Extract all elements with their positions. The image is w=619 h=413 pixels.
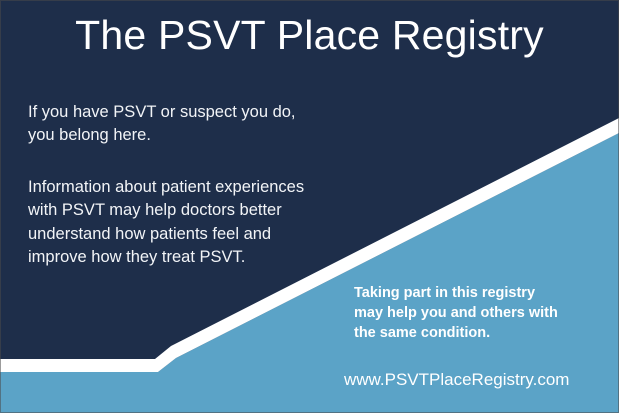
intro-paragraph: If you have PSVT or suspect you do, you …	[28, 101, 368, 148]
benefit-paragraph: Taking part in this registry may help yo…	[354, 283, 594, 343]
info-paragraph-line-2: with PSVT may help doctors better	[28, 199, 363, 222]
page-title: The PSVT Place Registry	[0, 12, 619, 59]
psvt-registry-poster: The PSVT Place Registry If you have PSVT…	[0, 0, 619, 413]
benefit-paragraph-line-2: may help you and others with	[354, 303, 594, 323]
benefit-paragraph-line-3: the same condition.	[354, 323, 594, 343]
info-paragraph-line-4: improve how they treat PSVT.	[28, 246, 363, 269]
poster-content: The PSVT Place Registry If you have PSVT…	[0, 0, 619, 413]
benefit-paragraph-line-1: Taking part in this registry	[354, 283, 594, 303]
intro-paragraph-line-1: If you have PSVT or suspect you do,	[28, 101, 368, 124]
website-url[interactable]: www.PSVTPlaceRegistry.com	[344, 370, 604, 390]
info-paragraph-line-3: understand how patients feel and	[28, 223, 363, 246]
info-paragraph: Information about patient experiences wi…	[28, 176, 363, 270]
intro-paragraph-line-2: you belong here.	[28, 124, 368, 147]
info-paragraph-line-1: Information about patient experiences	[28, 176, 363, 199]
